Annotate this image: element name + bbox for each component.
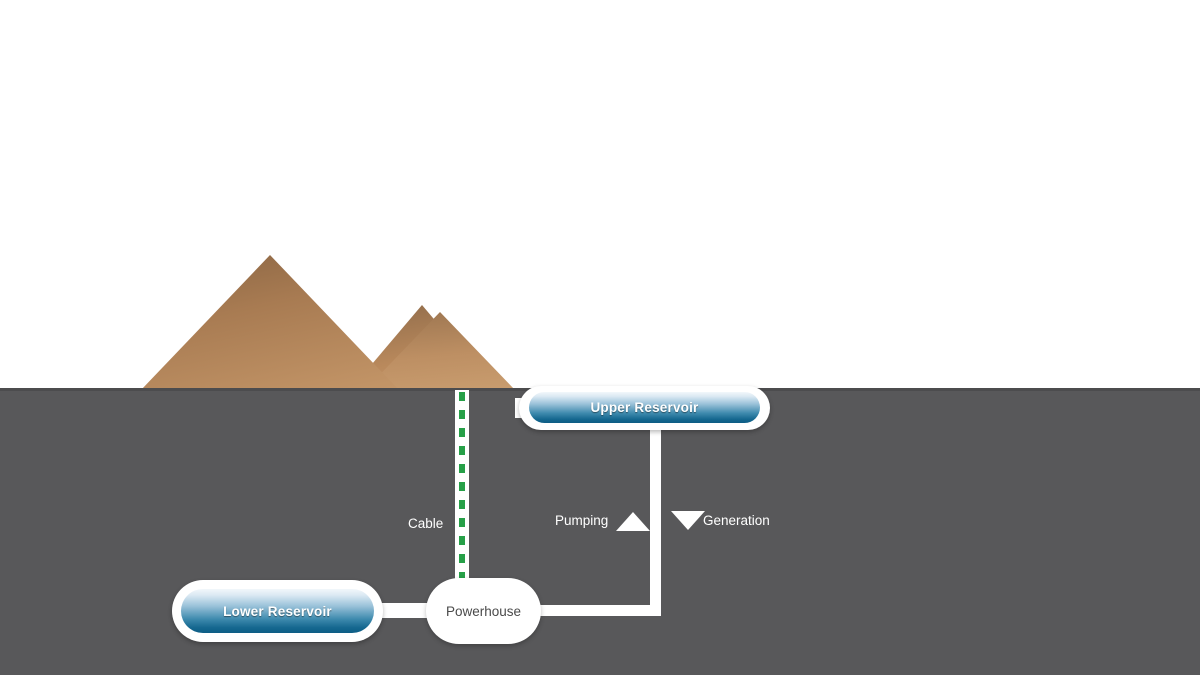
powerhouse-label: Powerhouse <box>446 604 521 619</box>
lower-reservoir-label: Lower Reservoir <box>223 604 332 619</box>
upper-reservoir-water: Upper Reservoir <box>529 392 760 423</box>
lower-reservoir-water: Lower Reservoir <box>181 589 374 633</box>
powerhouse[interactable]: Powerhouse <box>426 578 541 644</box>
pipe-horizontal-penstock <box>525 605 661 616</box>
cable-label: Cable <box>408 516 443 531</box>
pumping-label: Pumping <box>555 513 608 528</box>
upper-reservoir-label: Upper Reservoir <box>590 400 698 415</box>
triangle-up-icon <box>616 512 650 531</box>
generation-label: Generation <box>703 513 770 528</box>
pipe-vertical-penstock <box>650 420 661 612</box>
triangle-down-icon <box>671 511 705 530</box>
sky-background <box>0 0 1200 390</box>
slide-canvas: MINE STORAGE CONCEPT Upper Reservoir Low… <box>0 0 1200 675</box>
cable-conductor-dashes <box>459 392 465 603</box>
